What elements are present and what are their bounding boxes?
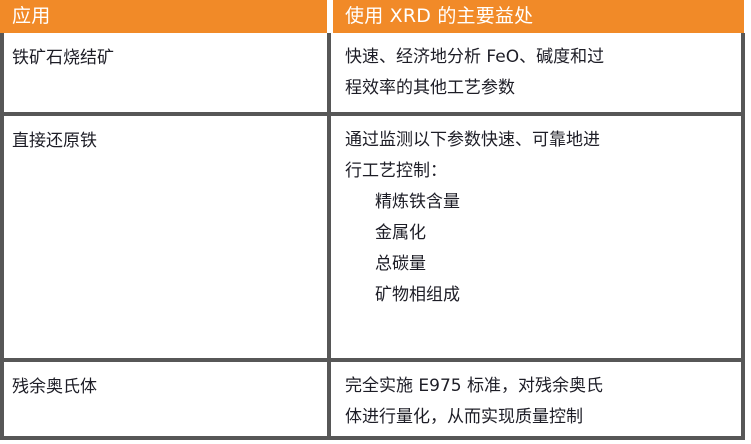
- cell-application: 残余奥氏体: [0, 362, 327, 440]
- list-item: 金属化: [345, 218, 734, 249]
- benefit-line: 完全实施 E975 标准，对残余奥氏: [345, 371, 734, 402]
- benefit-line: 通过监测以下参数快速、可靠地进: [345, 125, 734, 156]
- cell-benefit: 快速、经济地分析 FeO、碱度和过 程效率的其他工艺参数: [333, 33, 744, 112]
- table-right-border: [741, 33, 745, 440]
- table-row: 直接还原铁 通过监测以下参数快速、可靠地进 行工艺控制： 精炼铁含量 金属化 总…: [0, 116, 751, 358]
- comparison-table: 应用 使用 XRD 的主要益处 铁矿石烧结矿 快速、经济地分析 FeO、碱度和过…: [0, 0, 751, 444]
- table-row: 残余奥氏体 完全实施 E975 标准，对残余奥氏 体进行量化，从而实现质量控制: [0, 362, 751, 440]
- benefit-line: 行工艺控制：: [345, 156, 734, 187]
- column-header-key-benefit: 使用 XRD 的主要益处: [333, 0, 744, 33]
- benefit-parameter-list: 精炼铁含量 金属化 总碳量 矿物相组成: [345, 187, 734, 311]
- table-row: 铁矿石烧结矿 快速、经济地分析 FeO、碱度和过 程效率的其他工艺参数: [0, 33, 751, 112]
- list-item: 总碳量: [345, 249, 734, 280]
- table-header-row: 应用 使用 XRD 的主要益处: [0, 0, 751, 33]
- cell-benefit: 完全实施 E975 标准，对残余奥氏 体进行量化，从而实现质量控制: [333, 362, 744, 440]
- list-item: 矿物相组成: [345, 280, 734, 311]
- column-divider: [327, 33, 331, 440]
- benefit-line: 快速、经济地分析 FeO、碱度和过: [345, 42, 734, 73]
- cell-application: 铁矿石烧结矿: [0, 33, 327, 112]
- row-separator: [0, 358, 745, 362]
- benefit-line: 程效率的其他工艺参数: [345, 73, 734, 104]
- list-item: 精炼铁含量: [345, 187, 734, 218]
- table-bottom-border: [0, 436, 745, 440]
- row-separator: [0, 112, 745, 116]
- benefit-line: 体进行量化，从而实现质量控制: [345, 402, 734, 433]
- cell-benefit: 通过监测以下参数快速、可靠地进 行工艺控制： 精炼铁含量 金属化 总碳量 矿物相…: [333, 116, 744, 358]
- header-right-gap: [744, 0, 751, 33]
- column-header-application: 应用: [0, 0, 327, 33]
- table-left-border: [0, 33, 4, 440]
- cell-application: 直接还原铁: [0, 116, 327, 358]
- table-body: 铁矿石烧结矿 快速、经济地分析 FeO、碱度和过 程效率的其他工艺参数 直接还原…: [0, 33, 751, 444]
